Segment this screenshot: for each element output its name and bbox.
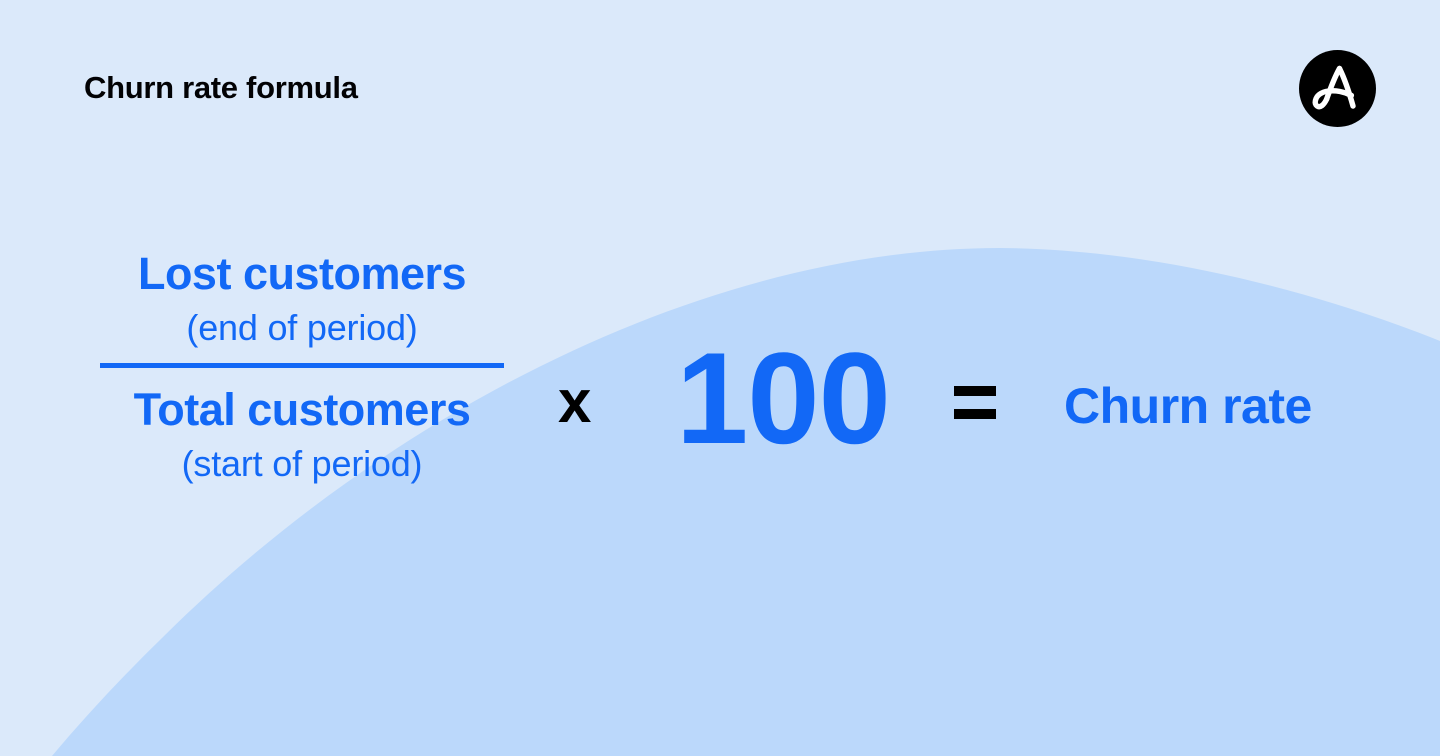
- fraction-bar-divider: [100, 363, 504, 368]
- amplitude-a-logo-icon[interactable]: [1299, 50, 1376, 127]
- numerator-sublabel: (end of period): [100, 304, 504, 352]
- churn-rate-formula-graphic: Churn rate formula Lost customers (end o…: [0, 0, 1440, 756]
- equals-bar-top: [954, 386, 996, 396]
- result-label: Churn rate: [1064, 377, 1312, 435]
- multiply-operator: x: [558, 372, 591, 432]
- denominator-label: Total customers: [100, 382, 504, 438]
- denominator-sublabel: (start of period): [100, 440, 504, 488]
- equals-bar-bottom: [954, 409, 996, 419]
- fraction: Lost customers (end of period) Total cus…: [100, 246, 504, 488]
- multiplier-value: 100: [676, 333, 890, 463]
- page-title: Churn rate formula: [84, 70, 358, 106]
- numerator-label: Lost customers: [100, 246, 504, 302]
- formula-expression: Lost customers (end of period) Total cus…: [0, 0, 1440, 756]
- logo-a-mark-icon: [1299, 50, 1376, 127]
- equals-icon: [954, 386, 996, 420]
